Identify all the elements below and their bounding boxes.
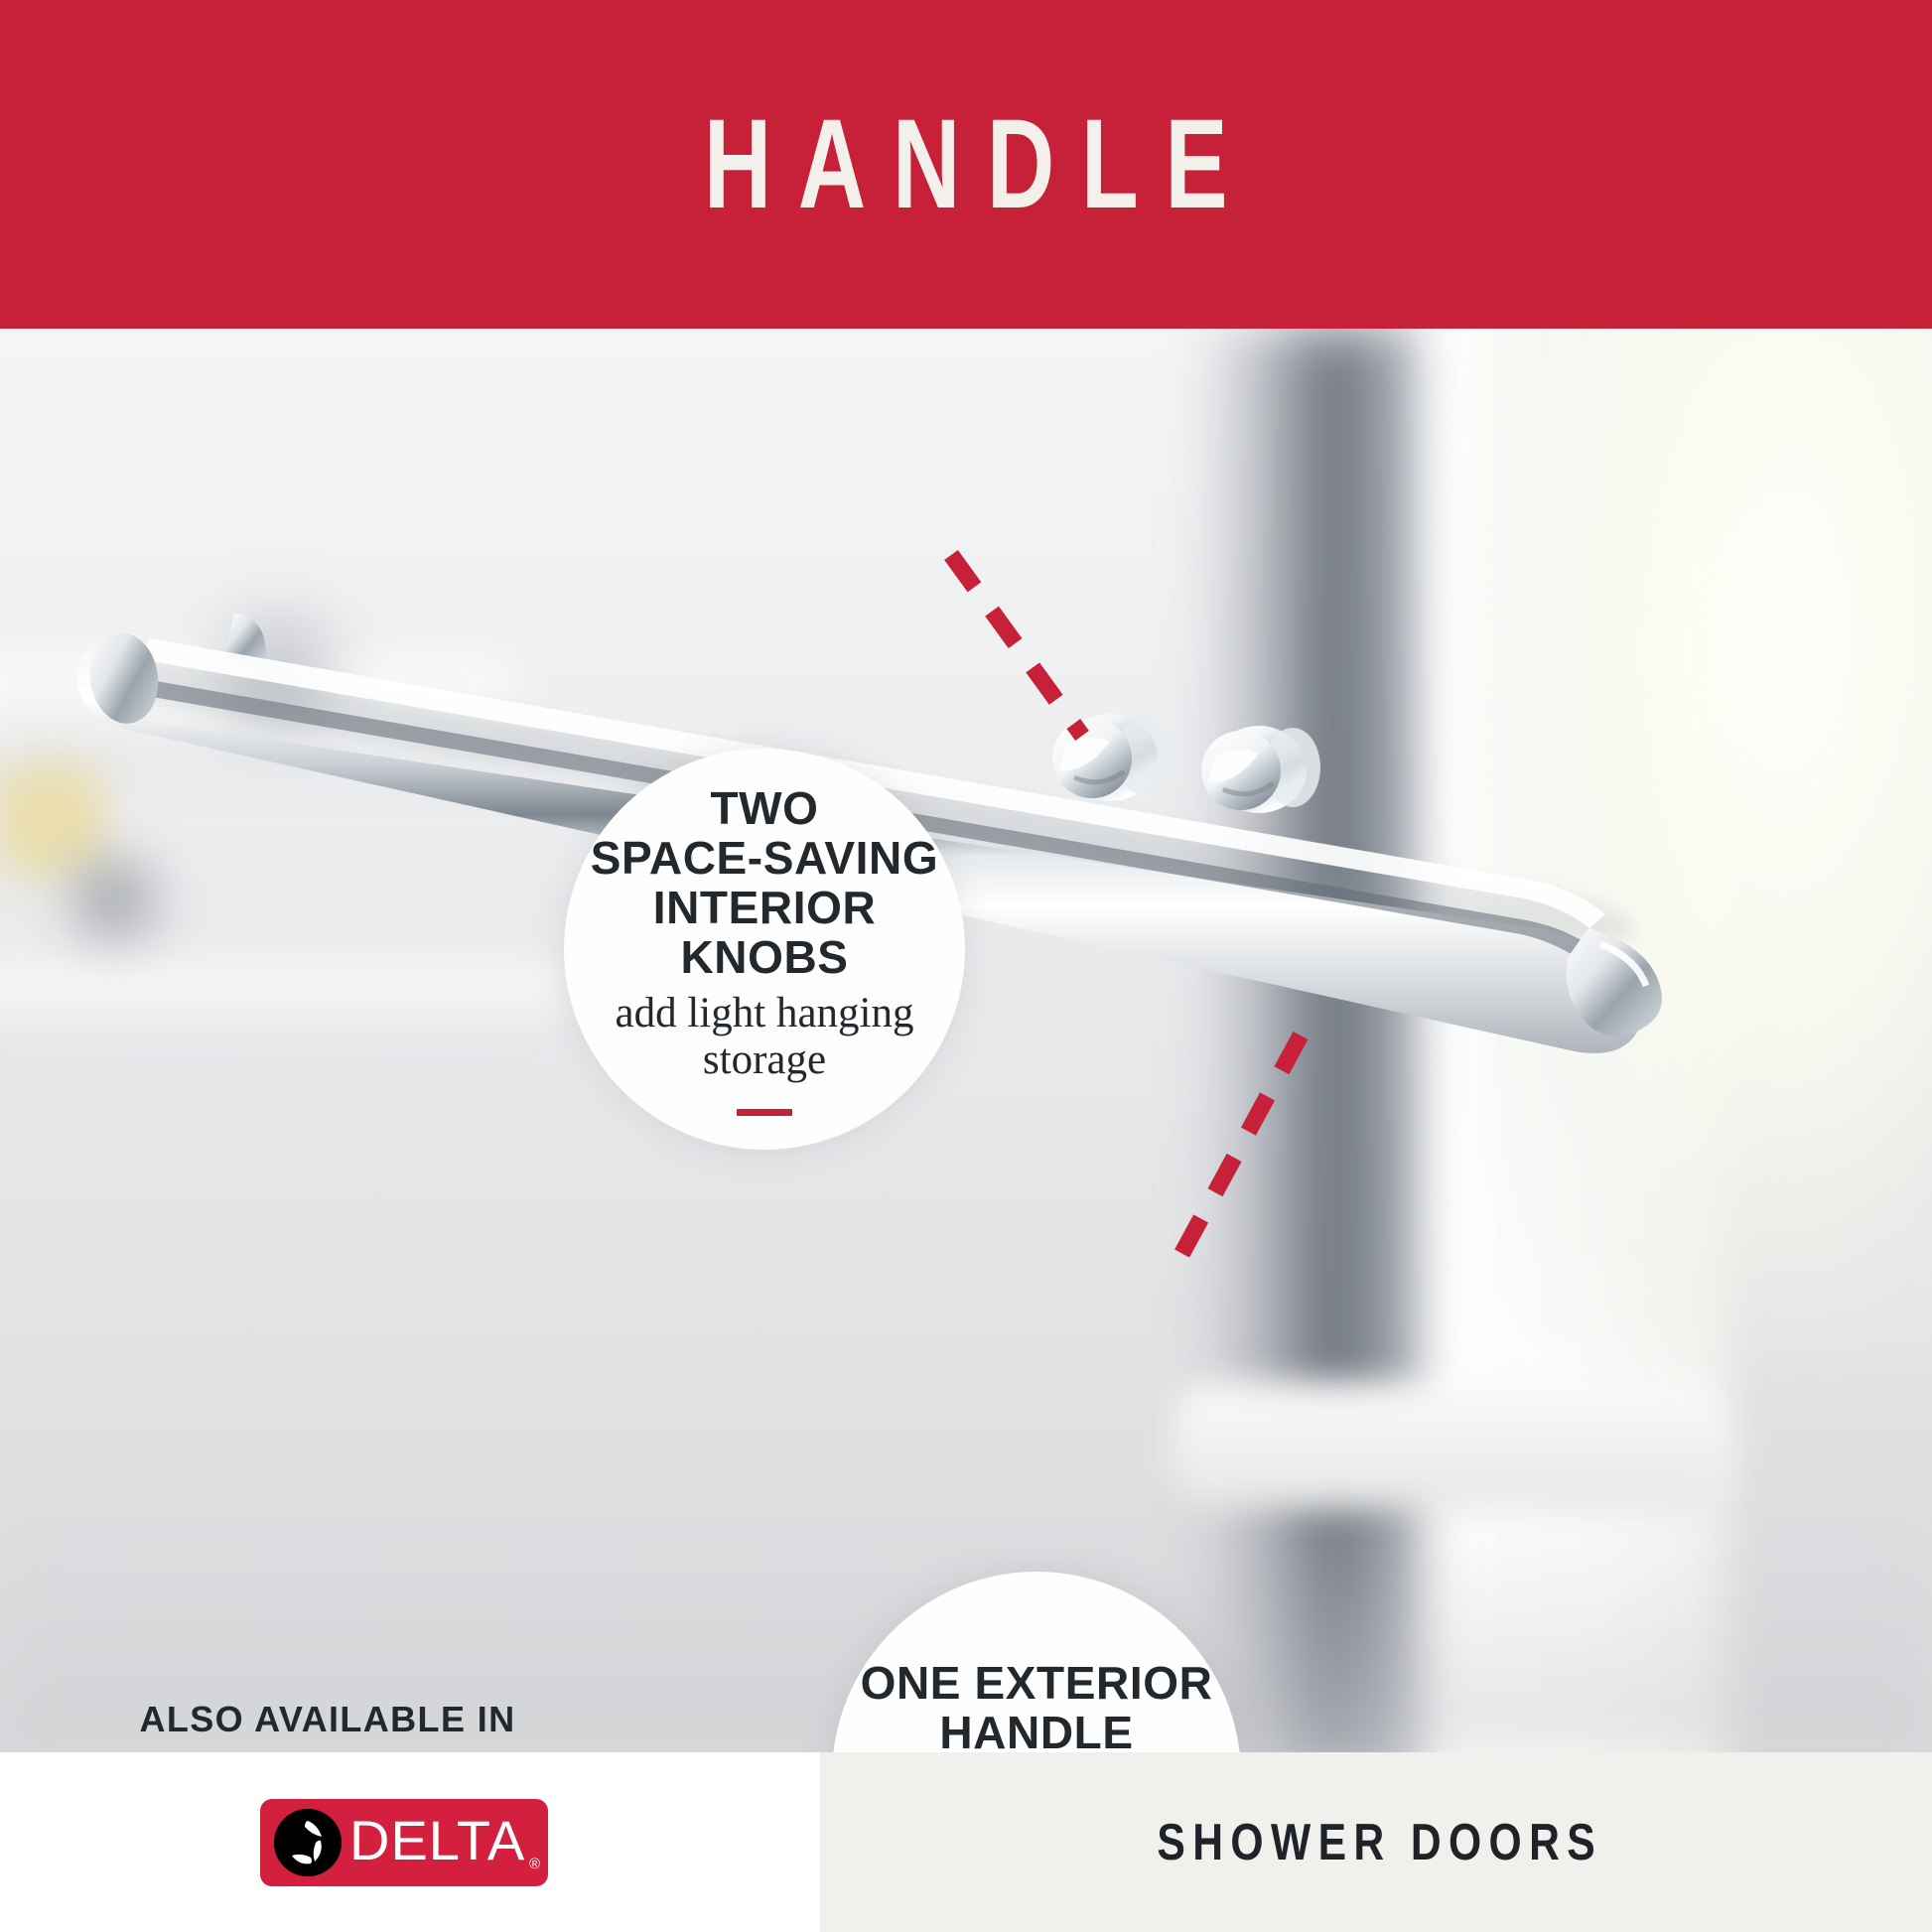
interior-knob-2 [1201,726,1320,813]
callout-interior-knobs: TWO SPACE-SAVING INTERIOR KNOBS add ligh… [564,749,965,1150]
finish-options: ALSO AVAILABLE IN BRUSHED NICKEL BRONZE [119,1699,536,1752]
callout-handle-headline: ONE EXTERIOR HANDLE [861,1658,1213,1753]
leader-line-handle [1177,1035,1301,1262]
callout-knobs-headline: TWO SPACE-SAVING INTERIOR KNOBS [564,783,965,982]
footer-tagline-panel: SHOWER DOORS [820,1752,1932,1932]
delta-logo[interactable]: DELTA ® [260,1799,548,1886]
page-title: HANDLE [677,101,1254,228]
product-photo: TWO SPACE-SAVING INTERIOR KNOBS add ligh… [0,329,1932,1752]
delta-triangle-icon [274,1809,342,1876]
handle-illustration [0,329,1932,1752]
header-banner: HANDLE [0,0,1932,329]
footer: DELTA ® SHOWER DOORS [0,1752,1932,1932]
footer-brand-panel: DELTA ® [0,1752,820,1932]
product-feature-card: HANDLE [0,0,1932,1932]
callout-knobs-subtext: add light hanging storage [616,990,914,1083]
footer-tagline: SHOWER DOORS [1150,1813,1602,1872]
registered-mark: ® [529,1856,540,1872]
finish-options-title: ALSO AVAILABLE IN [119,1699,536,1740]
leader-line-knobs [951,555,1082,736]
delta-wordmark: DELTA [349,1813,525,1868]
callout-knobs-rule [737,1109,792,1116]
